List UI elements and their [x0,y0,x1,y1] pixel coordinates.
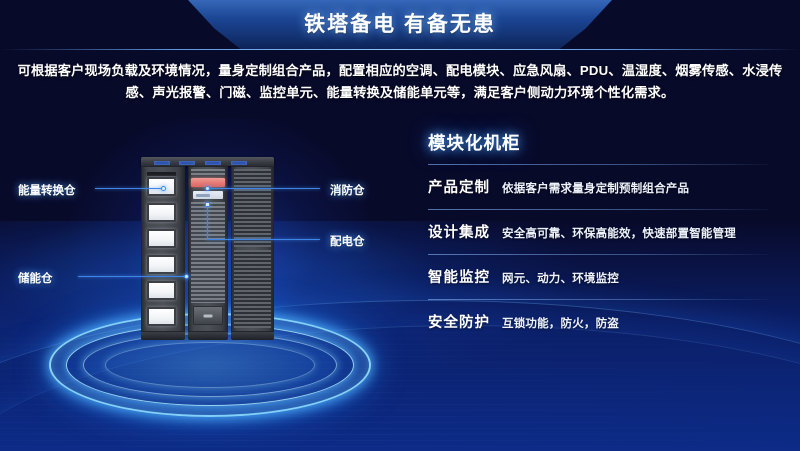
callout-leader-line [210,188,320,189]
feature-key: 安全防护 [428,311,490,332]
title-banner: 铁塔备电 有备无患 [0,0,800,50]
callout-leader-line [95,188,164,189]
callout-label-power-distribution: 配电仓 [330,233,365,249]
callout-label-energy-conversion: 能量转换仓 [18,182,76,198]
cabinet-vent-grill [191,169,225,177]
cabinet-top-tab [205,161,221,165]
cabinet-module [147,307,176,326]
cabinet-vent-grill-dark [234,169,271,247]
cabinet-illustration: 能量转换仓 储能仓 消防仓 配电仓 [0,108,420,451]
feature-key: 产品定制 [428,176,490,197]
cabinet-module [147,229,176,248]
feature-key: 设计集成 [428,221,490,242]
podium-ring-core [105,342,315,388]
description-text: 可根据客户现场负载及环境情况，量身定制组合产品，配置相应的空调、配电模块、应急风… [14,60,786,104]
feature-value: 依据客户需求量身定制预制组合产品 [502,180,689,196]
banner-title: 铁塔备电 有备无患 [0,0,800,50]
feature-key: 智能监控 [428,266,490,287]
drawer-handle [204,314,213,317]
feature-row: 安全防护 互锁功能，防火，防盗 [428,300,786,344]
callout-label-fire-protection: 消防仓 [330,182,365,198]
cabinet-foot-middle [188,332,228,340]
cabinet-vent-grill [191,202,225,303]
feature-row: 智能监控 网元、动力、环境监控 [428,255,786,299]
module-cap-line [147,172,176,176]
banner-underline [0,49,800,50]
callout-label-energy-storage: 储能仓 [18,270,53,286]
cabinet-vent-grill-dark [234,250,271,328]
callout-leader-line [207,239,320,240]
callout-anchor-dot [161,186,166,191]
feature-value: 安全高可靠、环保高能效，快速部置智能管理 [502,225,736,241]
callout-leader-line-vertical [207,207,208,240]
cabinet-foot-left [141,332,185,340]
cabinet-drawer [193,306,223,325]
cabinet-module [147,281,176,300]
slide-canvas: 铁塔备电 有备无患 可根据客户现场负载及环境情况，量身定制组合产品，配置相应的空… [0,0,800,451]
cabinet-top-tab [154,161,170,165]
feature-panel: 模块化机柜 产品定制 依据客户需求量身定制预制组合产品 设计集成 安全高可靠、环… [428,130,786,344]
feature-row: 设计集成 安全高可靠、环保高能效，快速部置智能管理 [428,210,786,254]
callout-anchor-dot [184,274,189,279]
feature-value: 互锁功能，防火，防盗 [502,315,619,331]
cabinet-bay-right [231,166,274,332]
feature-value: 网元、动力、环境监控 [502,270,619,286]
callout-leader-line [78,276,186,277]
feature-row: 产品定制 依据客户需求量身定制预制组合产品 [428,165,786,209]
cabinet-top-tab [231,161,247,165]
panel-title: 模块化机柜 [428,130,786,155]
cabinet-module [147,255,176,274]
cabinet-foot-right [231,332,274,340]
control-panel [193,191,223,199]
cabinet-top-tab [179,161,195,165]
modular-cabinet [141,157,274,340]
control-panel-indicator [196,194,210,197]
cabinet-module [147,203,176,222]
